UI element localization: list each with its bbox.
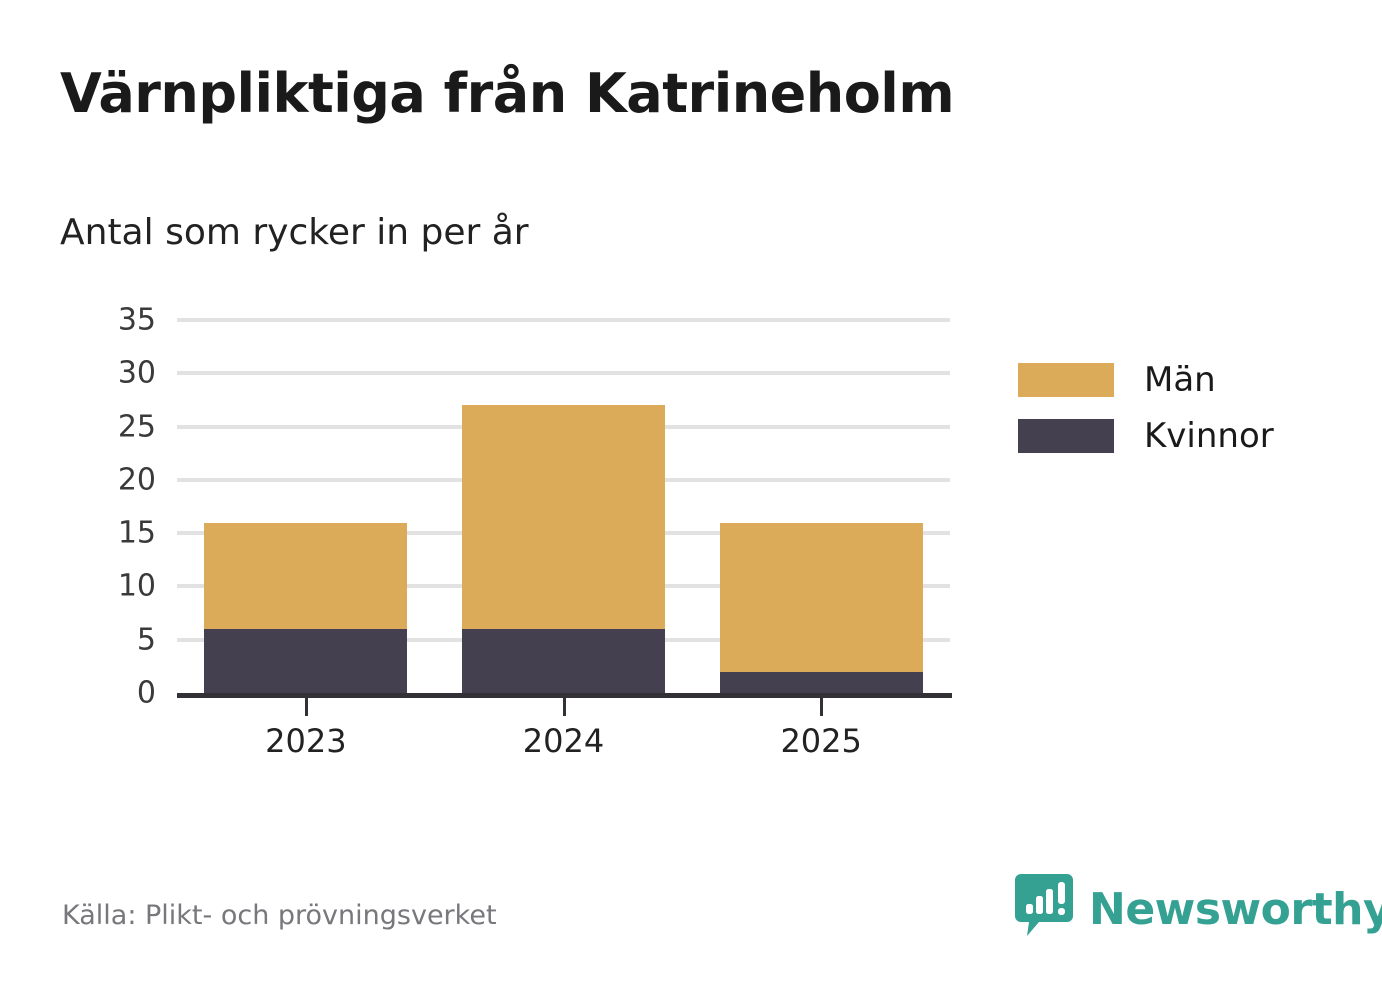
legend-label: Kvinnor (1144, 416, 1274, 456)
legend-label: Män (1144, 360, 1216, 400)
gridline (177, 318, 950, 322)
x-axis-tick-mark (820, 698, 823, 716)
gridline (177, 371, 950, 375)
brand-wordmark: Newsworthy (1089, 884, 1382, 935)
bar-stack[interactable] (204, 523, 407, 694)
bar-segment-man[interactable] (720, 523, 923, 672)
x-axis-tick-label: 2024 (523, 722, 604, 760)
bar-segment-man[interactable] (204, 523, 407, 630)
bar-segment-kvinnor[interactable] (462, 629, 665, 693)
legend-swatch (1018, 419, 1114, 453)
newsworthy-logo: Newsworthy (1013, 872, 1382, 946)
speech-bubble-bar-chart-icon (1013, 872, 1075, 946)
y-axis-tick-label: 10 (96, 569, 156, 604)
y-axis-tick-label: 15 (96, 516, 156, 551)
x-axis-tick-label: 2025 (780, 722, 861, 760)
bar-segment-kvinnor[interactable] (204, 629, 407, 693)
bar-stack[interactable] (720, 523, 923, 694)
bar-segment-kvinnor[interactable] (720, 672, 923, 693)
bar-stack[interactable] (462, 405, 665, 693)
x-axis-tick-mark (563, 698, 566, 716)
y-axis-tick-label: 30 (96, 356, 156, 391)
x-axis-tick-label: 2023 (265, 722, 346, 760)
chart-plot-area: 05101520253035 202320242025 (0, 0, 1382, 999)
y-axis-tick-label: 0 (96, 676, 156, 711)
y-axis-tick-label: 20 (96, 462, 156, 497)
y-axis-tick-label: 5 (96, 622, 156, 657)
legend-item[interactable]: Män (1018, 352, 1274, 408)
legend-swatch (1018, 363, 1114, 397)
legend-item[interactable]: Kvinnor (1018, 408, 1274, 464)
y-axis-tick-label: 35 (96, 303, 156, 338)
y-axis-tick-label: 25 (96, 409, 156, 444)
chart-page: Värnpliktiga från Katrineholm Antal som … (0, 0, 1382, 999)
x-axis-tick-mark (305, 698, 308, 716)
bar-segment-man[interactable] (462, 405, 665, 629)
chart-legend: MänKvinnor (1018, 352, 1274, 464)
source-note: Källa: Plikt- och prövningsverket (62, 900, 497, 931)
